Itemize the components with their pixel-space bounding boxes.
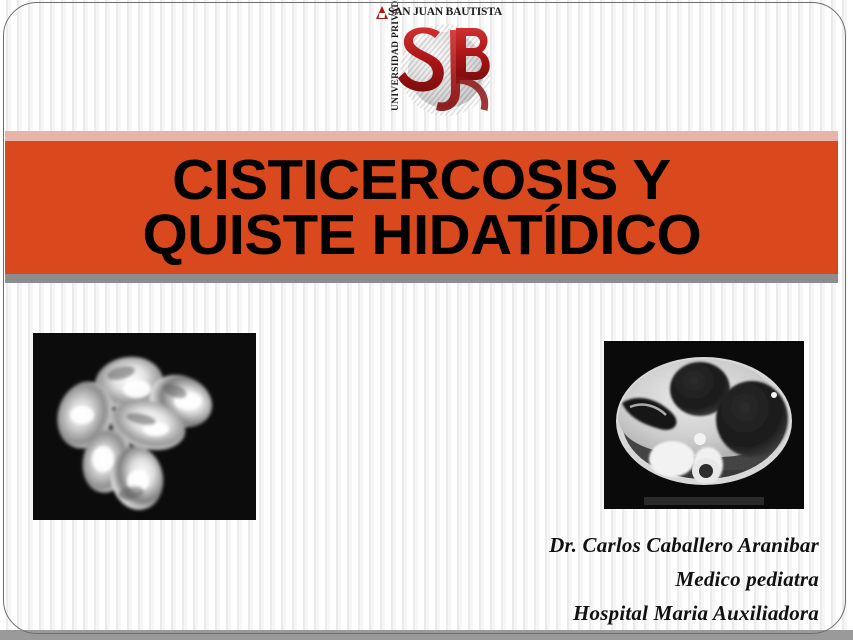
sjb-monogram-letters: [394, 20, 490, 124]
presentation-slide: SAN JUAN BAUTISTA UNIVERSIDAD PRIVADA: [0, 0, 853, 640]
credit-line-institution: Hospital Maria Auxiliadora: [299, 596, 819, 630]
title-banner: CISTICERCOSIS Y QUISTE HIDATÍDICO: [5, 131, 838, 283]
cysticercus-cysts-illustration: [33, 333, 256, 520]
abdominal-ct-illustration: [604, 341, 804, 509]
credit-line-presenter: Dr. Carlos Caballero Aranibar: [299, 528, 819, 562]
slide-title-line-2: QUISTE HIDATÍDICO: [142, 208, 701, 263]
cysticercus-cysts-photo: [33, 333, 256, 520]
sjb-monogram: [394, 20, 490, 124]
credit-line-role: Medico pediatra: [299, 562, 819, 596]
abdominal-ct-hydatid-cyst-photo: [604, 341, 804, 509]
slide-title: CISTICERCOSIS Y QUISTE HIDATÍDICO: [5, 142, 838, 273]
slide-title-line-1: CISTICERCOSIS Y: [172, 153, 670, 208]
logo-wordmark: SAN JUAN BAUTISTA: [388, 6, 488, 18]
banner-top-stripe: [5, 131, 838, 141]
presenter-credits: Dr. Carlos Caballero Aranibar Medico ped…: [299, 528, 819, 630]
san-juan-bautista-university-logo: SAN JUAN BAUTISTA UNIVERSIDAD PRIVADA: [368, 2, 490, 128]
red-mountain-peak-icon: [376, 6, 388, 19]
banner-bottom-stripe: [5, 274, 838, 283]
bottom-baseboard-strip: [0, 630, 853, 640]
